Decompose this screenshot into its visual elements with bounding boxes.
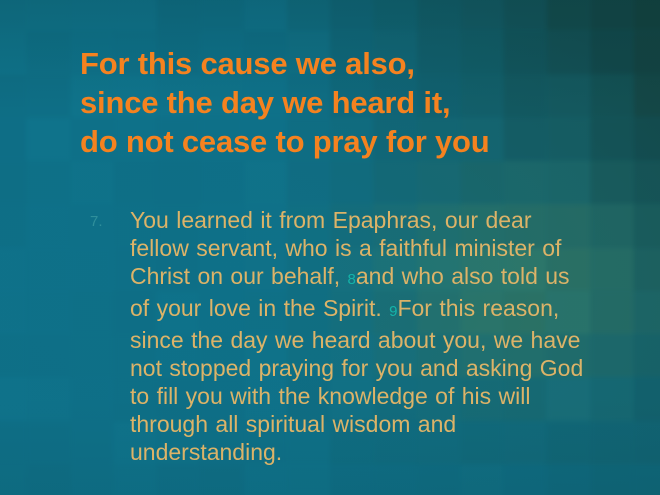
scripture-body: 7. You learned it from Epaphras, our dea… <box>90 206 590 466</box>
verse-marker-7: 7. <box>90 206 130 236</box>
verse-number-8: 8 <box>348 271 356 288</box>
slide-title: For this cause we also, since the day we… <box>80 44 640 161</box>
slide-canvas: For this cause we also, since the day we… <box>0 0 660 495</box>
slide-content: For this cause we also, since the day we… <box>0 0 660 495</box>
scripture-text: You learned it from Epaphras, our dear f… <box>130 206 590 466</box>
verse-number-9: 9 <box>389 303 397 320</box>
